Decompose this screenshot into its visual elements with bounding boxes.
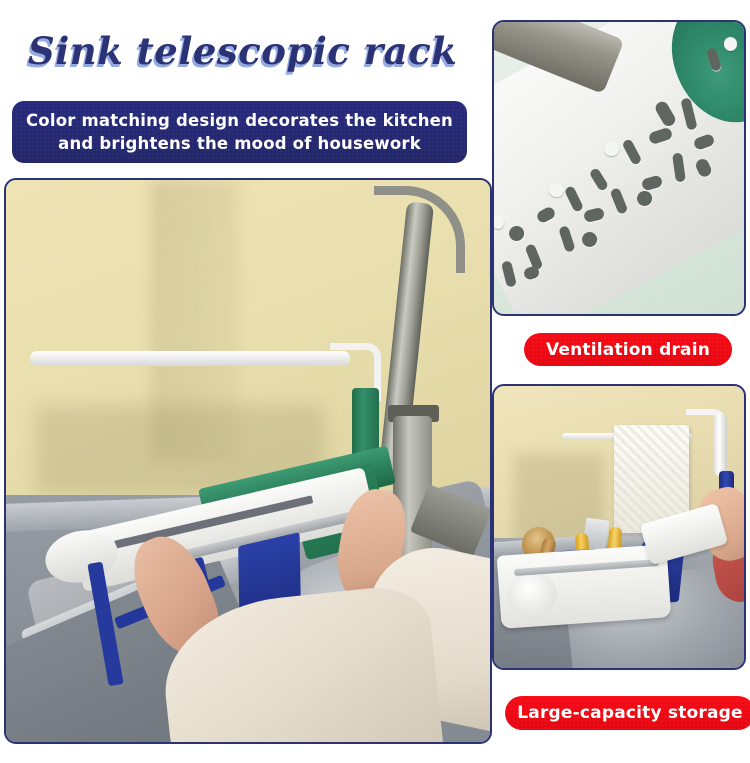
ventilation-drain-label: Ventilation drain <box>546 340 710 360</box>
drain-hole <box>648 127 673 145</box>
large-capacity-storage-badge: Large-capacity storage <box>505 696 750 730</box>
ventilation-drain-badge: Ventilation drain <box>524 333 732 366</box>
main-product-photo <box>4 178 492 744</box>
rack-towel-bar <box>30 351 349 366</box>
drain-hole <box>609 188 628 216</box>
drain-hole <box>621 138 642 166</box>
drain-hole <box>558 225 576 253</box>
drain-hole-group <box>494 22 744 314</box>
drain-hole <box>492 215 504 230</box>
subtitle-line-2: and brightens the mood of housework <box>58 132 421 155</box>
drain-hole <box>604 142 619 157</box>
drain-hole <box>693 157 712 178</box>
ventilation-drain-photo <box>492 20 746 316</box>
drain-hole <box>724 37 737 52</box>
drain-hole <box>535 205 556 224</box>
drain-hole <box>564 185 585 213</box>
drain-hole <box>635 189 654 208</box>
drain-hole <box>501 261 517 289</box>
drain-hole <box>583 207 605 223</box>
large-capacity-storage-label: Large-capacity storage <box>517 703 743 723</box>
drain-hole <box>693 133 716 151</box>
drain-hole <box>640 174 662 191</box>
subtitle-line-1: Color matching design decorates the kitc… <box>26 109 453 132</box>
page-title: Sink telescopic rack <box>28 22 478 80</box>
drain-hole <box>653 99 677 128</box>
drain-hole <box>706 47 723 72</box>
rack-bar-vertical <box>714 414 727 476</box>
drain-hole <box>589 167 610 192</box>
large-capacity-storage-photo <box>492 384 746 670</box>
subtitle-banner: Color matching design decorates the kitc… <box>12 101 467 163</box>
drain-hole <box>579 230 598 249</box>
drain-hole <box>549 183 564 198</box>
drain-hole <box>672 153 686 183</box>
drain-hole <box>506 224 526 244</box>
drain-hole <box>680 97 697 131</box>
